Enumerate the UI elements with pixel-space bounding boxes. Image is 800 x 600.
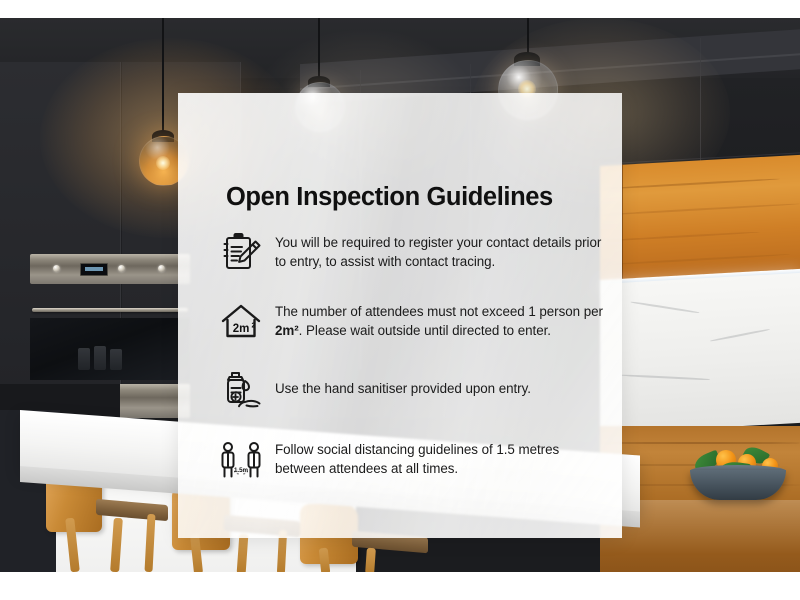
guideline-text-pre: The number of attendees must not exceed … <box>275 304 603 319</box>
guideline-text-bold: 2m² <box>275 323 299 338</box>
oven-knob <box>118 265 125 272</box>
pendant-cord <box>162 18 164 136</box>
guideline-text: Follow social distancing guidelines of 1… <box>264 435 608 478</box>
distance-icon-label: 1.5m <box>234 467 249 474</box>
canister-reflection <box>110 349 122 370</box>
guideline-item: You will be required to register your co… <box>218 228 608 276</box>
page-title: Open Inspection Guidelines <box>226 183 606 212</box>
hand-sanitiser-icon <box>218 368 264 414</box>
canister-reflection <box>78 348 90 370</box>
oven-knob <box>53 265 60 272</box>
wood-wall-panel <box>600 155 800 286</box>
marble-splashback <box>600 273 800 434</box>
guidelines-overlay-card: Open Inspection Guidelines <box>178 93 622 538</box>
guideline-text: The number of attendees must not exceed … <box>264 297 608 340</box>
guideline-text-post: . Please wait outside until directed to … <box>299 323 551 338</box>
guideline-item: 2m 2 The number of attendees must not ex… <box>218 297 608 345</box>
pendant-filament <box>156 156 170 170</box>
oven-display <box>80 263 108 276</box>
pendant-cord <box>318 18 320 80</box>
guideline-item: 1.5m Follow social distancing guidelines… <box>218 435 608 483</box>
guidelines-list: You will be required to register your co… <box>218 228 608 504</box>
guideline-text: You will be required to register your co… <box>264 228 608 271</box>
clipboard-pencil-icon <box>218 230 264 276</box>
guideline-item: Use the hand sanitiser provided upon ent… <box>218 366 608 414</box>
fruit-bowl <box>690 470 786 500</box>
house-icon-label: 2m <box>233 323 250 335</box>
canister-reflection <box>94 346 106 370</box>
guideline-text: Use the hand sanitiser provided upon ent… <box>264 366 608 398</box>
oven-knob <box>158 265 165 272</box>
house-area-icon: 2m 2 <box>218 299 264 345</box>
svg-text:2: 2 <box>252 323 256 330</box>
social-distancing-icon: 1.5m <box>218 437 264 483</box>
screenshot-root: Open Inspection Guidelines <box>0 0 800 600</box>
kitchen-photo: Open Inspection Guidelines <box>0 18 800 572</box>
oven-handle <box>32 308 188 312</box>
